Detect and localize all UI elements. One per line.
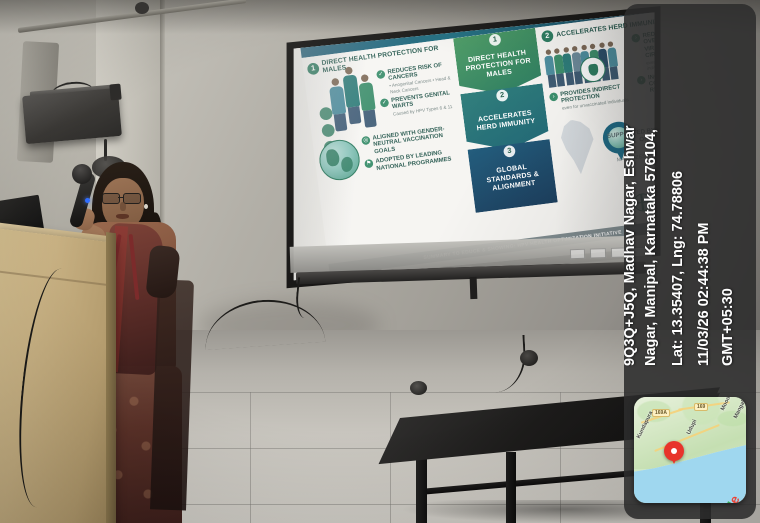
saree-drape	[150, 279, 194, 510]
gps-address-line-2: Nagar, Manipal, Karnataka 576104,	[643, 129, 659, 366]
check-icon: ✓	[376, 70, 386, 80]
chevron-1-label: DIRECT HEALTH PROTECTION FOR MALES	[459, 48, 538, 83]
glasses-icon	[102, 193, 142, 202]
gps-datetime: 11/03/26 02:44:38 PM	[696, 223, 712, 367]
ceiling-projector-unit	[22, 88, 122, 144]
nose	[120, 202, 126, 211]
check-icon: ✓	[380, 98, 390, 108]
india-map-icon	[553, 116, 604, 176]
display-button-1[interactable]	[570, 249, 586, 259]
cable-coil-icon	[520, 350, 538, 366]
display-stand-leg	[470, 277, 478, 299]
earring	[144, 204, 148, 209]
wall-camera-icon	[410, 381, 427, 395]
flag-icon: ⚑	[364, 159, 374, 169]
target-icon: ◎	[361, 136, 371, 146]
map-location-marker-icon	[664, 441, 684, 461]
map-road-shield-169: 169	[694, 403, 708, 411]
interactive-display[interactable]: WHY HPV VACCINATION IN MALES: A COMPREHE…	[282, 5, 662, 295]
left-column-number: 1	[307, 62, 320, 75]
ceiling-sensor-icon	[135, 2, 149, 14]
gps-coordinates: Lat: 13.35407, Lng: 74.78806	[670, 171, 686, 366]
table-leg	[506, 452, 516, 523]
gps-timezone: GMT+05:30	[720, 288, 736, 366]
chevron-2-label: ACCELERATES HERD IMMUNITY	[467, 108, 545, 135]
chevron-2-number: 2	[496, 89, 509, 102]
microphone-led-indicator	[85, 198, 90, 203]
podium-side-edge	[106, 232, 116, 523]
male-figures-illustration	[328, 71, 380, 132]
gps-map-thumbnail[interactable]: 169A 169 Kundapura Udupi Moodbidri Manga…	[634, 397, 746, 503]
gps-camera-overlay: 9Q3Q+J5Q, Madhav Nagar, Eshwar Nagar, Ma…	[624, 4, 756, 519]
chevron-right-icon: ›	[549, 92, 559, 102]
mouth	[116, 214, 129, 219]
chevron-1-number: 1	[488, 33, 501, 46]
slide-left-column: 1 DIRECT HEALTH PROTECTION FOR MALES	[302, 39, 478, 264]
display-button-2[interactable]	[590, 248, 606, 258]
gps-text-block: 9Q3Q+J5Q, Madhav Nagar, Eshwar Nagar, Ma…	[624, 4, 756, 384]
right-column-number: 2	[541, 30, 554, 43]
crowd-illustration	[543, 35, 635, 88]
floor-tile-line	[250, 392, 251, 523]
table-leg	[416, 455, 427, 523]
chevron-3-number: 3	[503, 145, 516, 158]
map-road-shield-169a: 169A	[652, 409, 670, 417]
screenshot-root: WHY HPV VACCINATION IN MALES: A COMPREHE…	[0, 0, 760, 523]
projector-knob-icon	[109, 84, 121, 101]
gps-address-line-1: 9Q3Q+J5Q, Madhav Nagar, Eshwar	[624, 125, 638, 366]
chevron-step-3: 3 GLOBAL STANDARDS & ALIGNMENT	[468, 139, 558, 213]
chevron-3-label: GLOBAL STANDARDS & ALIGNMENT	[473, 161, 552, 196]
